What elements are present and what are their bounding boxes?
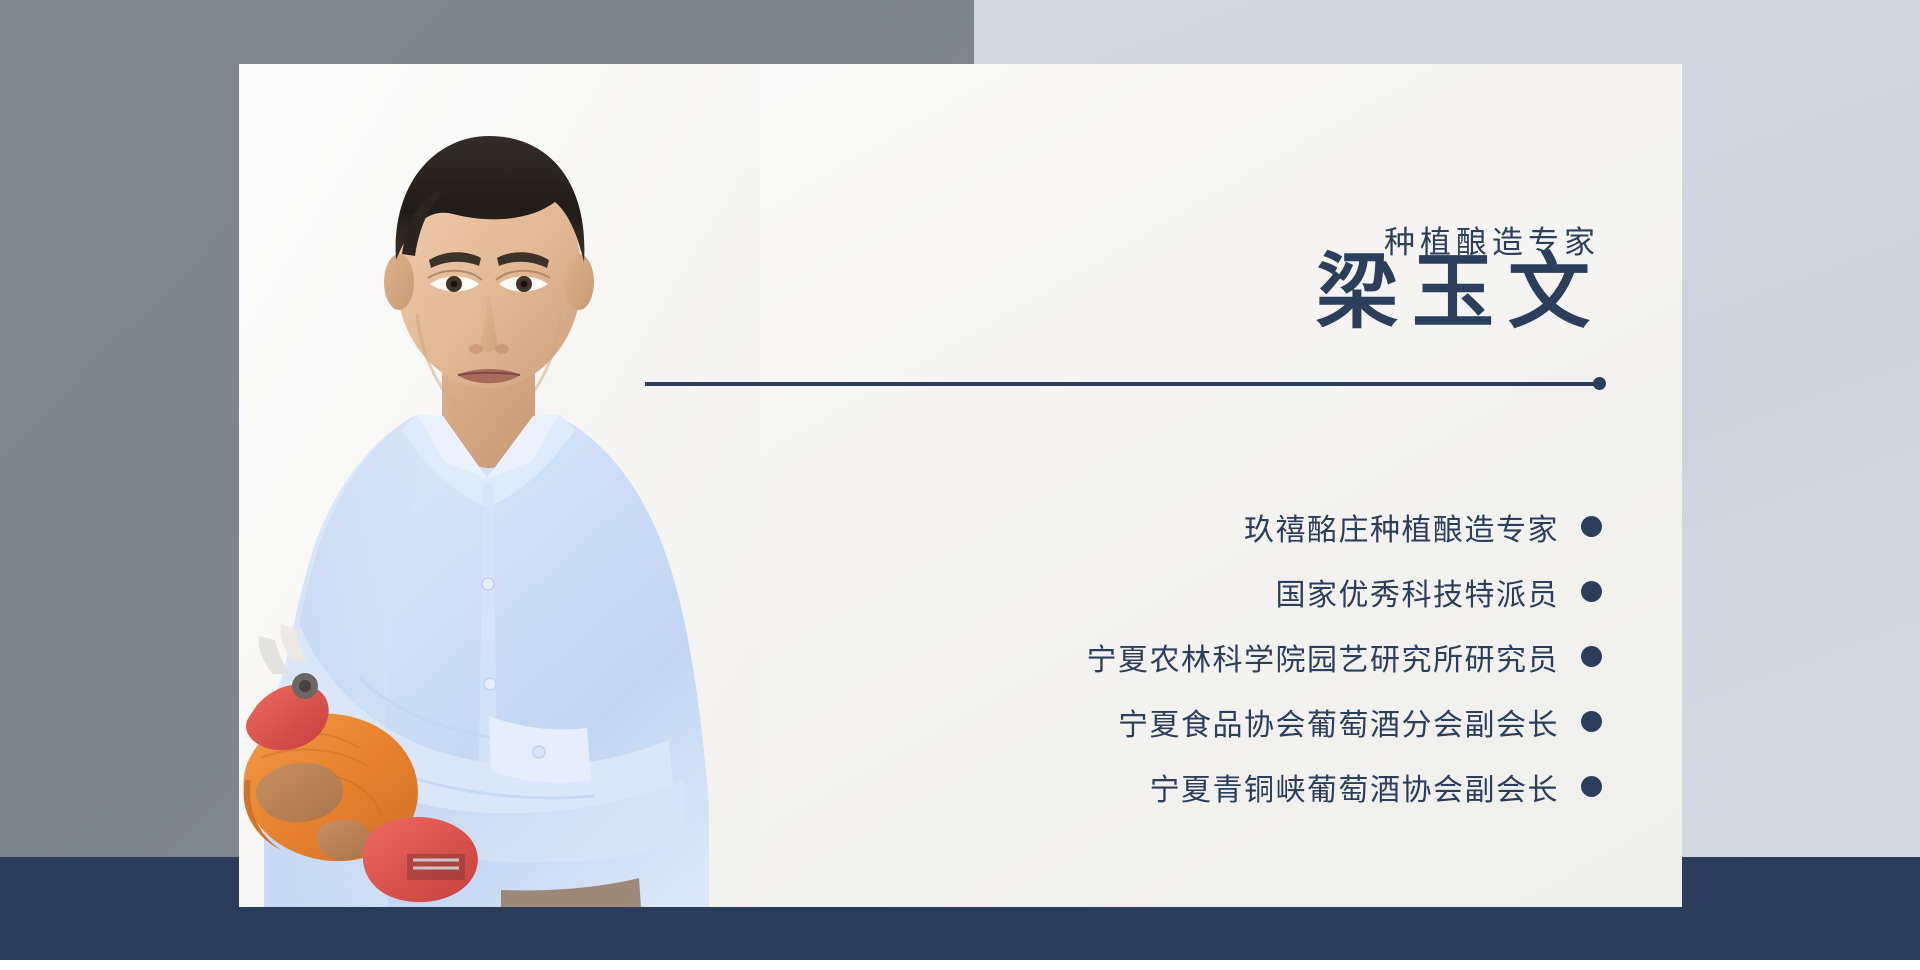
credential-label: 玖禧酩庄种植酿造专家	[1244, 505, 1559, 549]
credential-label: 宁夏青铜峡葡萄酒协会副会长	[1150, 765, 1560, 809]
credential-list: 玖禧酩庄种植酿造专家 国家优秀科技特派员 宁夏农林科学院园艺研究所研究员 宁夏食…	[842, 500, 1602, 825]
credential-label: 国家优秀科技特派员	[1276, 570, 1560, 614]
bullet-dot-icon	[1581, 776, 1602, 797]
credential-label: 宁夏农林科学院园艺研究所研究员	[1087, 635, 1560, 679]
list-item: 宁夏食品协会葡萄酒分会副会长	[842, 695, 1602, 748]
profile-card: 种植酿造专家 梁玉文 玖禧酩庄种植酿造专家 国家优秀科技特派员 宁夏农林科学院园…	[239, 64, 1682, 907]
divider-rule	[645, 382, 1599, 386]
list-item: 宁夏农林科学院园艺研究所研究员	[842, 630, 1602, 683]
list-item: 国家优秀科技特派员	[842, 565, 1602, 618]
bullet-dot-icon	[1581, 711, 1602, 732]
list-item: 宁夏青铜峡葡萄酒协会副会长	[842, 760, 1602, 813]
page-title: 梁玉文	[1316, 250, 1604, 336]
bullet-dot-icon	[1581, 581, 1602, 602]
poster-canvas: 种植酿造专家 梁玉文 玖禧酩庄种植酿造专家 国家优秀科技特派员 宁夏农林科学院园…	[0, 0, 1920, 970]
list-item: 玖禧酩庄种植酿造专家	[842, 500, 1602, 553]
bullet-dot-icon	[1581, 646, 1602, 667]
divider-end-dot-icon	[1593, 377, 1606, 390]
portrait-photo	[239, 64, 759, 907]
bullet-dot-icon	[1581, 516, 1602, 537]
credential-label: 宁夏食品协会葡萄酒分会副会长	[1118, 700, 1559, 744]
background-strip-white	[0, 960, 1920, 970]
